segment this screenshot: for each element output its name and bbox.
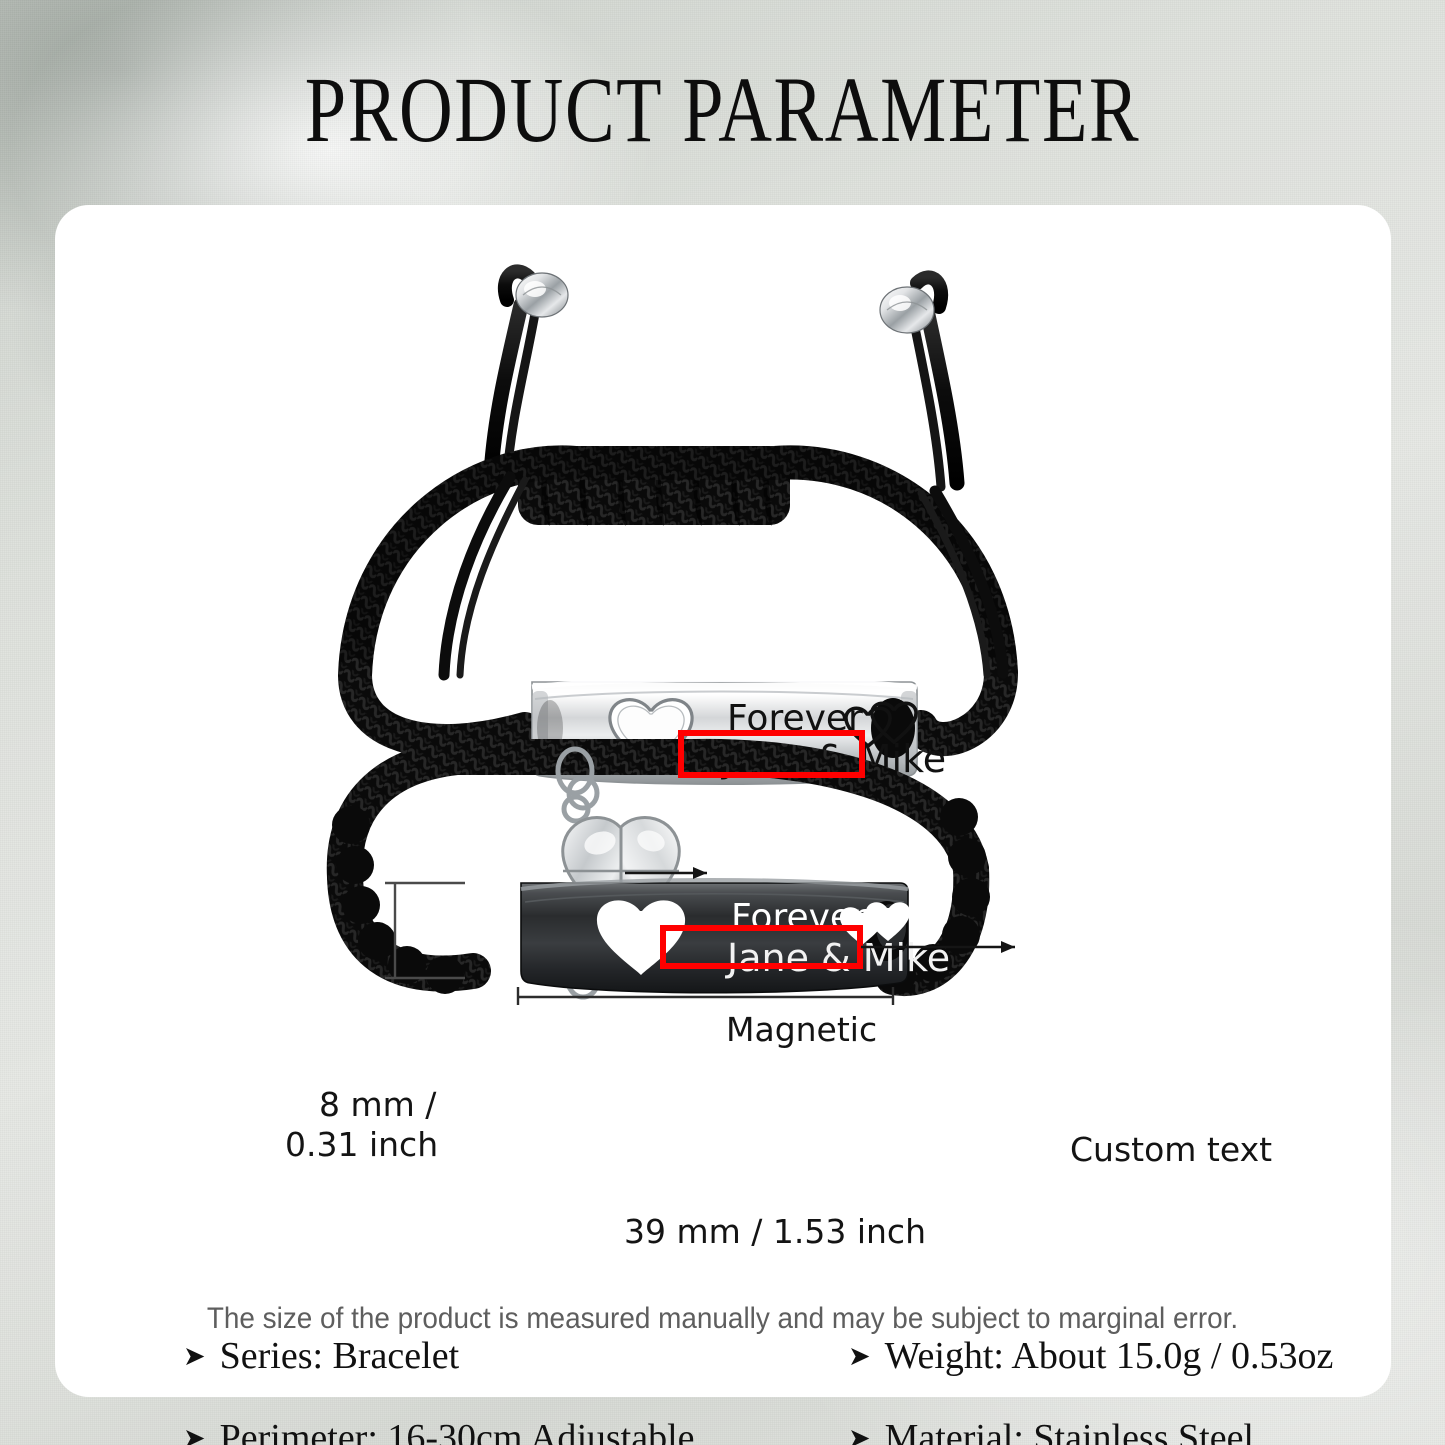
custom-text-highlight-black xyxy=(663,928,860,966)
spec-label-weight: Weight: About 15.0g / 0.53oz xyxy=(885,1334,1334,1378)
width-dimension-label: 39 mm / 1.53 inch xyxy=(624,1212,926,1251)
adjuster-bead-right xyxy=(880,287,934,333)
spec-label-perimeter: Perimeter: 16-30cm Adjustable xyxy=(220,1416,695,1445)
product-illustration: Forever Jane & Mike xyxy=(55,205,1391,1035)
inner-cords xyxy=(444,477,1003,675)
cord-tails xyxy=(491,271,957,487)
arrow-bullet-icon: ➤ xyxy=(848,1343,871,1370)
black-bar-engraving-line1: Forever xyxy=(731,897,867,938)
heart-outline-pair xyxy=(846,703,916,746)
sliding-knot xyxy=(518,457,790,525)
dimension-height xyxy=(385,883,465,978)
spec-label-material: Material: Stainless Steel xyxy=(885,1416,1254,1445)
custom-text-highlight-silver xyxy=(681,733,862,775)
height-dimension-line1: 8 mm / xyxy=(319,1085,436,1124)
arrow-head-custom-text xyxy=(1001,941,1015,953)
silver-id-bar: Forever Jane & Mike xyxy=(532,680,946,785)
black-bar-engraving-line2: Jane & Mike xyxy=(725,936,950,980)
spec-label-series: Series: Bracelet xyxy=(220,1334,460,1378)
spec-item-series: ➤ Series: Bracelet xyxy=(183,1334,848,1378)
black-id-bar: Forever Jane & Mike xyxy=(521,880,950,993)
braided-cord-upper xyxy=(355,462,1001,741)
silver-bar-engraving-line2: Jane & Mike xyxy=(721,737,946,781)
arrow-head-magnetic xyxy=(693,867,707,879)
annotation-magnetic: Magnetic xyxy=(726,1010,877,1049)
spec-item-perimeter: ➤ Perimeter: 16-30cm Adjustable xyxy=(183,1416,848,1445)
measurement-disclaimer: The size of the product is measured manu… xyxy=(51,1302,1395,1336)
arrow-bullet-icon: ➤ xyxy=(183,1425,206,1445)
spec-item-material: ➤ Material: Stainless Steel xyxy=(848,1416,1393,1445)
adjuster-bead-left xyxy=(516,273,568,317)
dimension-width xyxy=(518,987,893,1005)
braided-cord-lower xyxy=(332,757,990,994)
silver-bar-engraving-line1: Forever xyxy=(727,698,863,739)
spec-item-weight: ➤ Weight: About 15.0g / 0.53oz xyxy=(848,1334,1393,1378)
page-title: PRODUCT PARAMETER xyxy=(145,62,1301,160)
magnetic-heart-charm xyxy=(558,749,679,997)
annotation-custom-text: Custom text xyxy=(1070,1130,1272,1169)
height-dimension-line2: 0.31 inch xyxy=(285,1125,438,1164)
heart-filled-pair xyxy=(840,902,910,945)
arrow-bullet-icon: ➤ xyxy=(183,1343,206,1370)
content-card: Forever Jane & Mike xyxy=(55,205,1391,1397)
annotation-leaders xyxy=(625,873,1015,947)
arrow-bullet-icon: ➤ xyxy=(848,1425,871,1445)
